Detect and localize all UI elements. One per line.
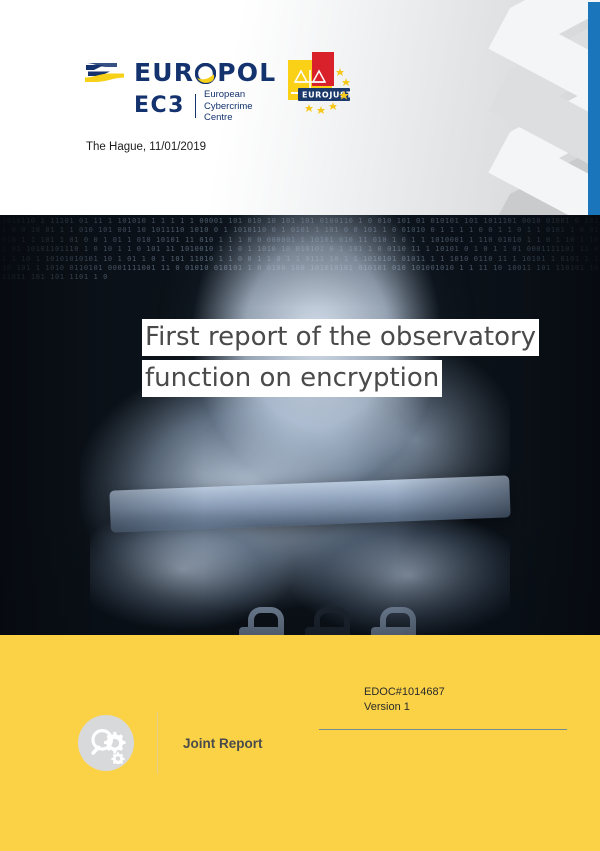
cover-hero-image: 1010110 1 11101 01 11 1 101010 1 1 1 1 1…: [0, 215, 600, 635]
ec3-divider: [195, 94, 196, 118]
ec3-full-name: European Cybercrime Centre: [204, 89, 284, 124]
page-title-line-1: First report of the observatory: [142, 319, 539, 356]
ec3-name-line1: European Cybercrime: [204, 89, 253, 112]
magnifier-gears-icon: [78, 715, 134, 771]
europol-wordmark-tail: POL: [217, 58, 276, 87]
footer-divider: [157, 712, 158, 774]
europol-o-glyph-icon: [195, 63, 216, 84]
document-cover-page: EURPOL EC3 European Cybercrime Centre: [0, 0, 600, 851]
eurojust-logo: EUROJUST: [288, 52, 356, 118]
photo-vignette: [0, 215, 600, 635]
europol-wave-mark-icon: [84, 61, 128, 85]
report-type-label: Joint Report: [183, 736, 263, 751]
dateline: The Hague, 11/01/2019: [86, 141, 206, 153]
page-header: EURPOL EC3 European Cybercrime Centre: [0, 0, 600, 215]
page-title: First report of the observatory function…: [142, 319, 582, 397]
version-label: Version 1: [364, 700, 445, 715]
footer-rule: [319, 729, 567, 730]
ec3-acronym: EC3: [134, 95, 185, 117]
europol-wordmark: EURPOL: [134, 60, 276, 85]
header-accent-bar: [588, 2, 600, 215]
document-reference: EDOC#1014687 Version 1: [364, 685, 445, 715]
page-title-line-2: function on encryption: [142, 360, 442, 397]
europol-logo: EURPOL EC3 European Cybercrime Centre: [84, 60, 284, 124]
europol-wordmark-head: EUR: [134, 58, 194, 87]
ec3-name-line2: Centre: [204, 112, 233, 123]
edoc-number: EDOC#1014687: [364, 685, 445, 700]
